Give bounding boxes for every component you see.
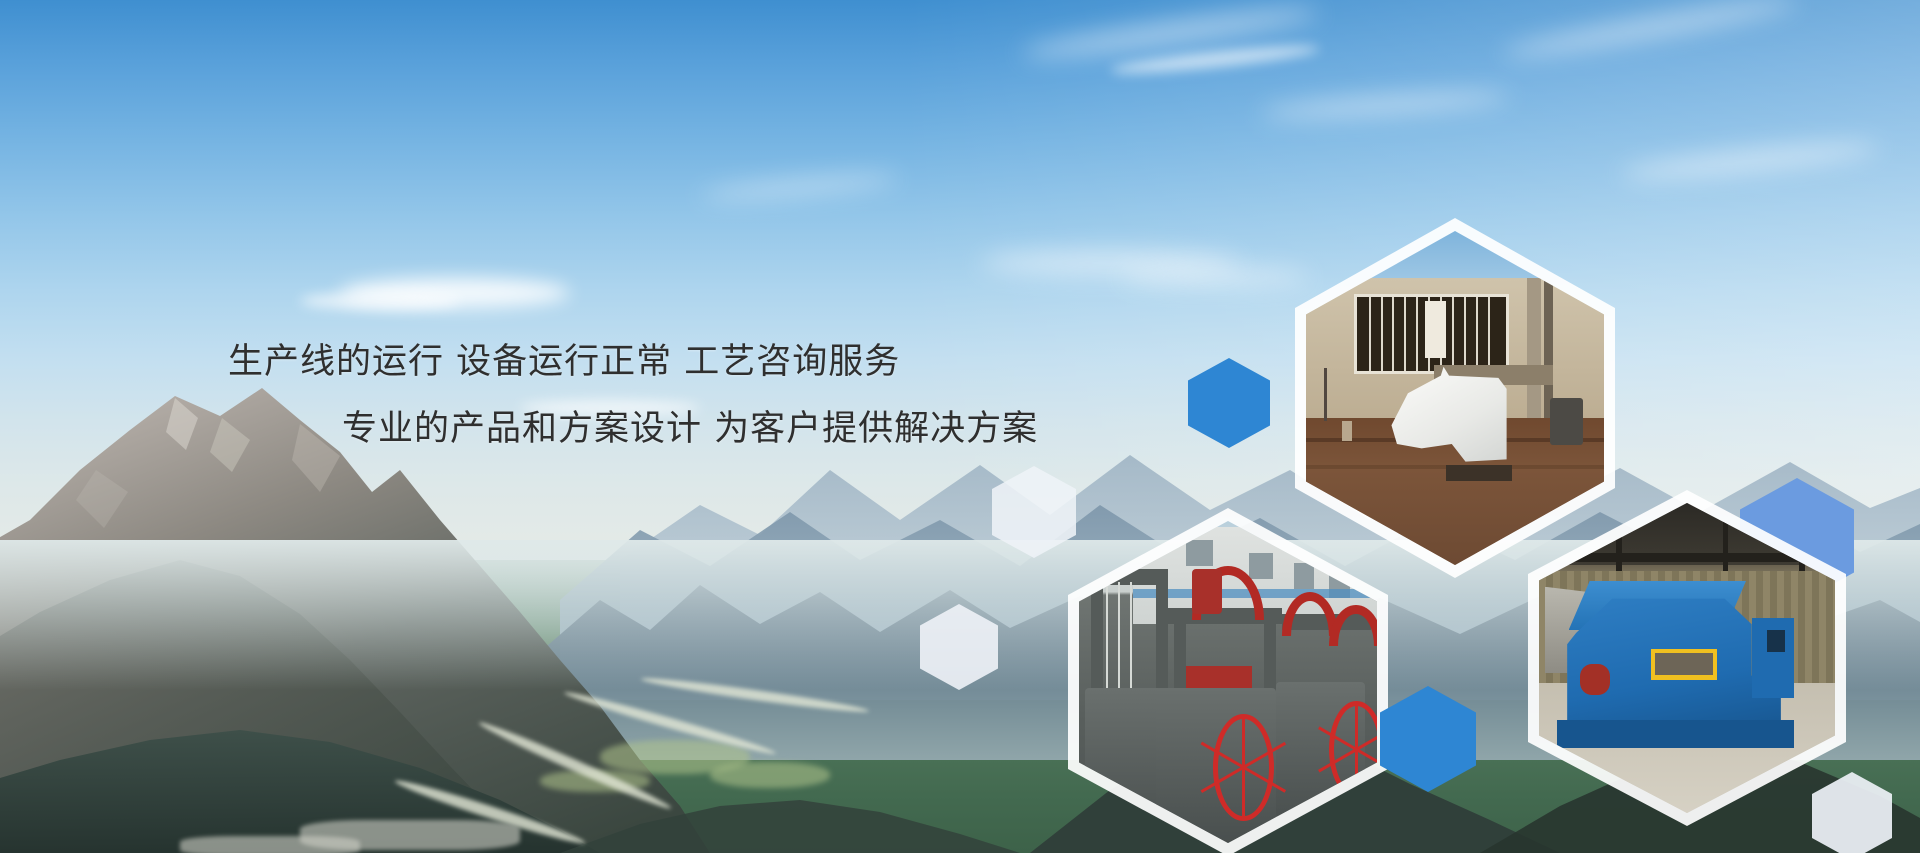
photo-casting-ladle-image xyxy=(1306,231,1604,565)
photo-blue-shredder-image xyxy=(1539,503,1835,813)
hero-banner: 生产线的运行 设备运行正常 工艺咨询服务 专业的产品和方案设计 为客户提供解决方… xyxy=(0,0,1920,853)
valley-field xyxy=(710,762,830,788)
photo-grey-ladles-image xyxy=(1079,521,1377,843)
headline-line-2: 专业的产品和方案设计 为客户提供解决方案 xyxy=(342,400,1038,451)
valley-town xyxy=(180,836,360,853)
headline-line-1: 生产线的运行 设备运行正常 工艺咨询服务 xyxy=(228,333,900,384)
